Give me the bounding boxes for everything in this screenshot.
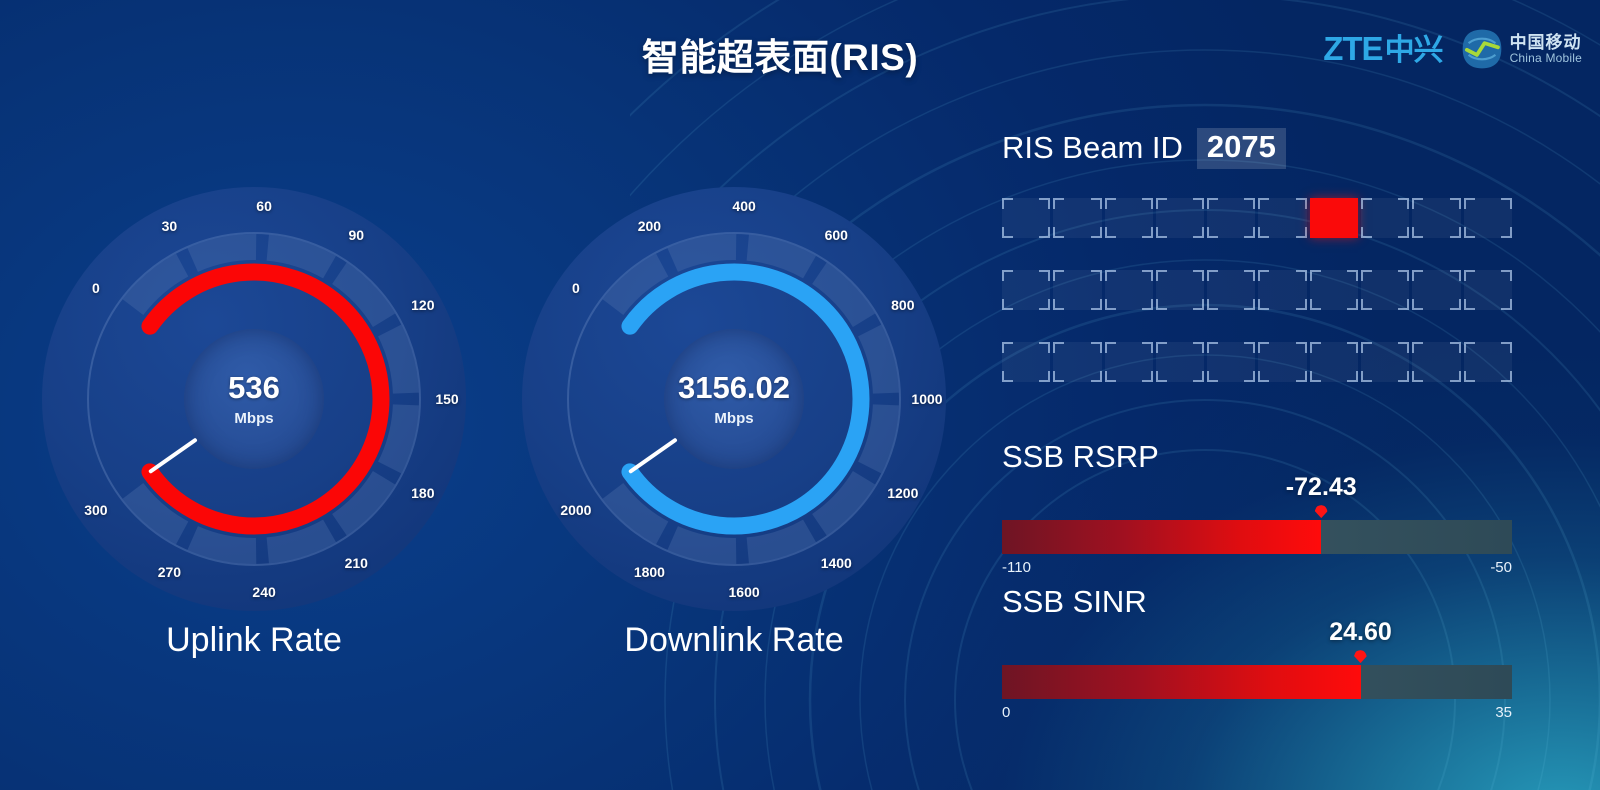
beam-cell[interactable] [1053, 270, 1101, 310]
china-mobile-wordmark: 中国移动 China Mobile [1510, 34, 1582, 64]
beam-row [1002, 198, 1512, 238]
gauge-tick-label: 1800 [634, 564, 665, 580]
beam-row [1002, 342, 1512, 382]
beam-cell[interactable] [1412, 342, 1460, 382]
logo-group: ZTE 中兴 中国移动 China Mobile [1323, 28, 1582, 70]
ssb-sinr-value: 24.60 [1329, 618, 1392, 647]
ssb-sinr-min-label: 0 [1002, 704, 1010, 721]
downlink-value: 3156.02 [678, 372, 790, 403]
ssb-rsrp-marker: -72.43 [1286, 473, 1357, 518]
uplink-gauge-readout: 536 Mbps [184, 329, 324, 469]
uplink-gauge: 536 Mbps 0306090120150180210240270300 [38, 183, 470, 615]
beam-cell[interactable] [1105, 198, 1153, 238]
beam-cell[interactable] [1053, 342, 1101, 382]
ssb-rsrp-max-label: -50 [1490, 559, 1512, 576]
beam-cell[interactable] [1258, 270, 1306, 310]
beam-cell[interactable] [1002, 342, 1050, 382]
ssb-rsrp-bar-fill [1002, 520, 1321, 554]
gauge-tick-label: 30 [162, 218, 178, 234]
uplink-value: 536 [228, 372, 280, 403]
ssb-sinr-metric: SSB SINR 24.60 0 35 [1002, 585, 1512, 724]
downlink-gauge-panel: 3156.02 Mbps 020040060080010001200140016… [518, 183, 950, 615]
ssb-rsrp-bar: -72.43 [1002, 520, 1512, 554]
gauge-tick-label: 60 [256, 198, 272, 214]
gauge-tick-label: 270 [158, 564, 181, 580]
ssb-sinr-bar: 24.60 [1002, 665, 1512, 699]
ssb-rsrp-value: -72.43 [1286, 473, 1357, 502]
beam-cell[interactable] [1053, 198, 1101, 238]
ssb-sinr-marker: 24.60 [1329, 618, 1392, 663]
gauge-tick-label: 1200 [887, 485, 918, 501]
beam-row [1002, 270, 1512, 310]
beam-cell[interactable] [1412, 198, 1460, 238]
beam-cell-active[interactable] [1310, 198, 1358, 238]
gauge-tick-label: 240 [252, 584, 275, 600]
marker-pin-icon [1315, 505, 1328, 518]
gauge-tick-label: 150 [435, 391, 458, 407]
beam-cell[interactable] [1105, 270, 1153, 310]
gauge-tick-label: 400 [732, 198, 755, 214]
beam-cell[interactable] [1361, 198, 1409, 238]
gauge-tick-label: 1600 [729, 584, 760, 600]
beam-cell[interactable] [1258, 198, 1306, 238]
beam-cell[interactable] [1310, 342, 1358, 382]
ssb-sinr-scale: 0 35 [1002, 704, 1512, 724]
uplink-unit: Mbps [234, 410, 273, 427]
downlink-caption: Downlink Rate [518, 621, 950, 660]
china-mobile-mark-icon [1461, 28, 1503, 70]
beam-cell[interactable] [1156, 198, 1204, 238]
china-mobile-label-en: China Mobile [1510, 52, 1582, 65]
beam-cell[interactable] [1258, 342, 1306, 382]
gauge-tick-label: 600 [825, 227, 848, 243]
beam-cell[interactable] [1207, 342, 1255, 382]
beam-cell[interactable] [1464, 270, 1512, 310]
zte-logo-cn: 中兴 [1385, 36, 1443, 66]
downlink-gauge-readout: 3156.02 Mbps [664, 329, 804, 469]
ssb-sinr-bar-fill [1002, 665, 1361, 699]
gauge-tick-label: 2000 [560, 502, 591, 518]
beam-cell[interactable] [1207, 198, 1255, 238]
beam-cell[interactable] [1002, 198, 1050, 238]
beam-cell[interactable] [1207, 270, 1255, 310]
gauge-tick-label: 1000 [911, 391, 942, 407]
beam-cell[interactable] [1464, 342, 1512, 382]
beam-cell[interactable] [1361, 342, 1409, 382]
zte-logo-en: ZTE [1323, 32, 1382, 65]
gauge-tick-label: 800 [891, 297, 914, 313]
ssb-rsrp-scale: -110 -50 [1002, 559, 1512, 579]
gauge-tick-label: 200 [638, 218, 661, 234]
beam-cell[interactable] [1156, 342, 1204, 382]
ris-beam-grid[interactable] [1002, 198, 1512, 414]
china-mobile-label-cn: 中国移动 [1510, 34, 1582, 52]
beam-cell[interactable] [1464, 198, 1512, 238]
ris-beam-header: RIS Beam ID 2075 [1002, 128, 1286, 169]
beam-cell[interactable] [1361, 270, 1409, 310]
marker-pin-icon [1354, 650, 1367, 663]
ssb-rsrp-min-label: -110 [1002, 559, 1031, 576]
uplink-caption: Uplink Rate [38, 621, 470, 660]
gauge-tick-label: 210 [345, 555, 368, 571]
zte-logo: ZTE 中兴 [1323, 32, 1442, 66]
ssb-sinr-title: SSB SINR [1002, 585, 1512, 619]
beam-cell[interactable] [1412, 270, 1460, 310]
gauge-tick-label: 1400 [821, 555, 852, 571]
uplink-gauge-panel: 536 Mbps 0306090120150180210240270300 Up… [38, 183, 470, 615]
gauge-tick-label: 0 [572, 280, 580, 296]
gauge-tick-label: 180 [411, 485, 434, 501]
ssb-sinr-max-label: 35 [1495, 704, 1512, 721]
ssb-rsrp-title: SSB RSRP [1002, 440, 1512, 474]
gauge-tick-label: 90 [348, 227, 364, 243]
gauge-tick-label: 300 [84, 502, 107, 518]
downlink-unit: Mbps [714, 410, 753, 427]
ris-dashboard: 智能超表面(RIS) ZTE 中兴 中国移动 China Mobile [0, 0, 1600, 790]
gauge-tick-label: 120 [411, 297, 434, 313]
ssb-rsrp-metric: SSB RSRP -72.43 -110 -50 [1002, 440, 1512, 579]
beam-cell[interactable] [1105, 342, 1153, 382]
ris-beam-id-value: 2075 [1197, 128, 1286, 169]
china-mobile-logo: 中国移动 China Mobile [1461, 28, 1582, 70]
gauge-tick-label: 0 [92, 280, 100, 296]
downlink-gauge: 3156.02 Mbps 020040060080010001200140016… [518, 183, 950, 615]
beam-cell[interactable] [1310, 270, 1358, 310]
beam-cell[interactable] [1002, 270, 1050, 310]
ris-beam-id-label: RIS Beam ID [1002, 130, 1183, 166]
beam-cell[interactable] [1156, 270, 1204, 310]
